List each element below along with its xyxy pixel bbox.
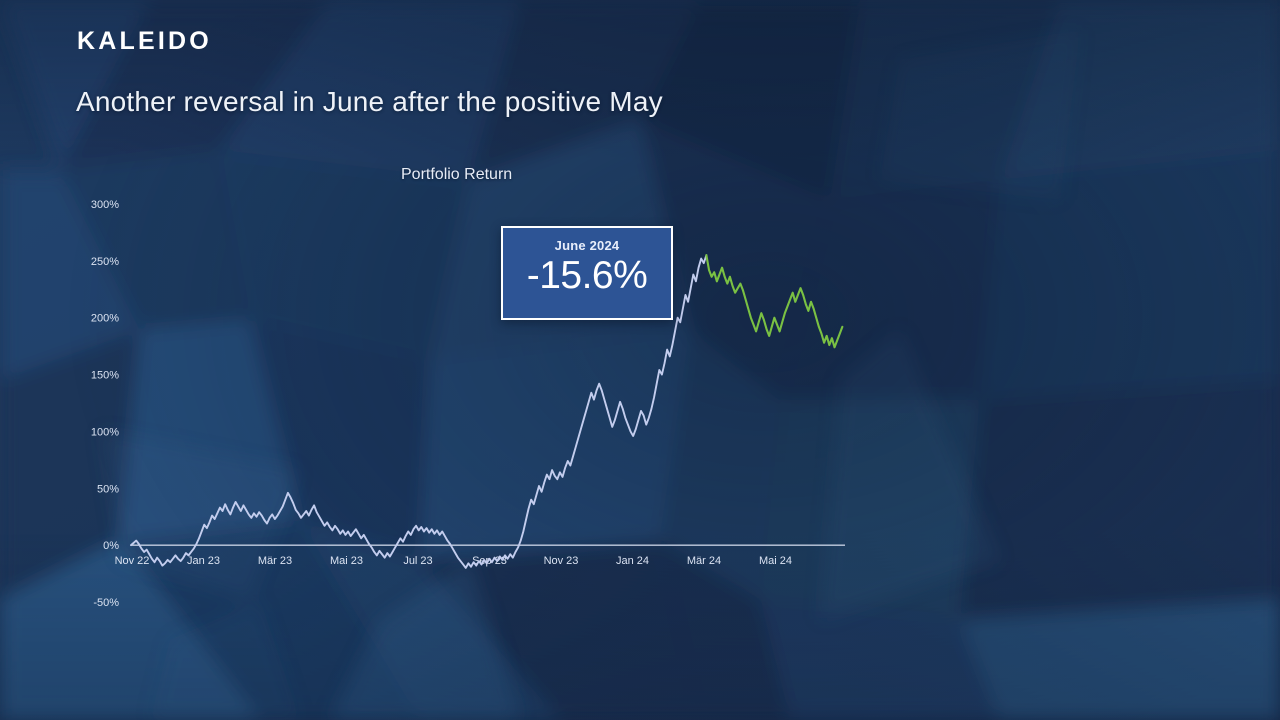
x-axis-tick-label: Mai 23 <box>330 555 363 567</box>
y-axis-tick-label: 100% <box>91 426 119 438</box>
x-axis-tick-label: Mär 23 <box>258 555 292 567</box>
y-axis-tick-label: 50% <box>97 483 119 495</box>
y-axis-tick-label: 200% <box>91 313 119 325</box>
x-axis-tick-label: Jul 23 <box>403 555 432 567</box>
brand-logo: KALEIDO <box>77 27 212 56</box>
y-axis-tick-label: -50% <box>93 597 119 609</box>
page-title: Another reversal in June after the posit… <box>76 86 663 118</box>
callout-value: -15.6% <box>527 254 648 298</box>
y-axis-tick-label: 0% <box>103 540 119 552</box>
x-axis-labels: Nov 22Jan 23Mär 23Mai 23Jul 23Sep 23Nov … <box>115 555 792 567</box>
series-line-current-month <box>706 255 842 347</box>
x-axis-tick-label: Jan 24 <box>616 555 649 567</box>
x-axis-tick-label: Mai 24 <box>759 555 792 567</box>
y-axis-tick-label: 150% <box>91 370 119 382</box>
x-axis-tick-label: Nov 22 <box>115 555 150 567</box>
callout-label: June 2024 <box>555 238 620 253</box>
x-axis-tick-label: Jan 23 <box>187 555 220 567</box>
slide-root: KALEIDO Another reversal in June after t… <box>0 0 1280 720</box>
y-axis-tick-label: 300% <box>91 199 119 211</box>
y-axis-labels: -50%0%50%100%150%200%250%300% <box>91 199 119 609</box>
x-axis-tick-label: Nov 23 <box>544 555 579 567</box>
june-2024-callout: June 2024 -15.6% <box>501 226 673 320</box>
chart-title: Portfolio Return <box>401 166 512 184</box>
y-axis-tick-label: 250% <box>91 256 119 268</box>
x-axis-tick-label: Mär 24 <box>687 555 721 567</box>
